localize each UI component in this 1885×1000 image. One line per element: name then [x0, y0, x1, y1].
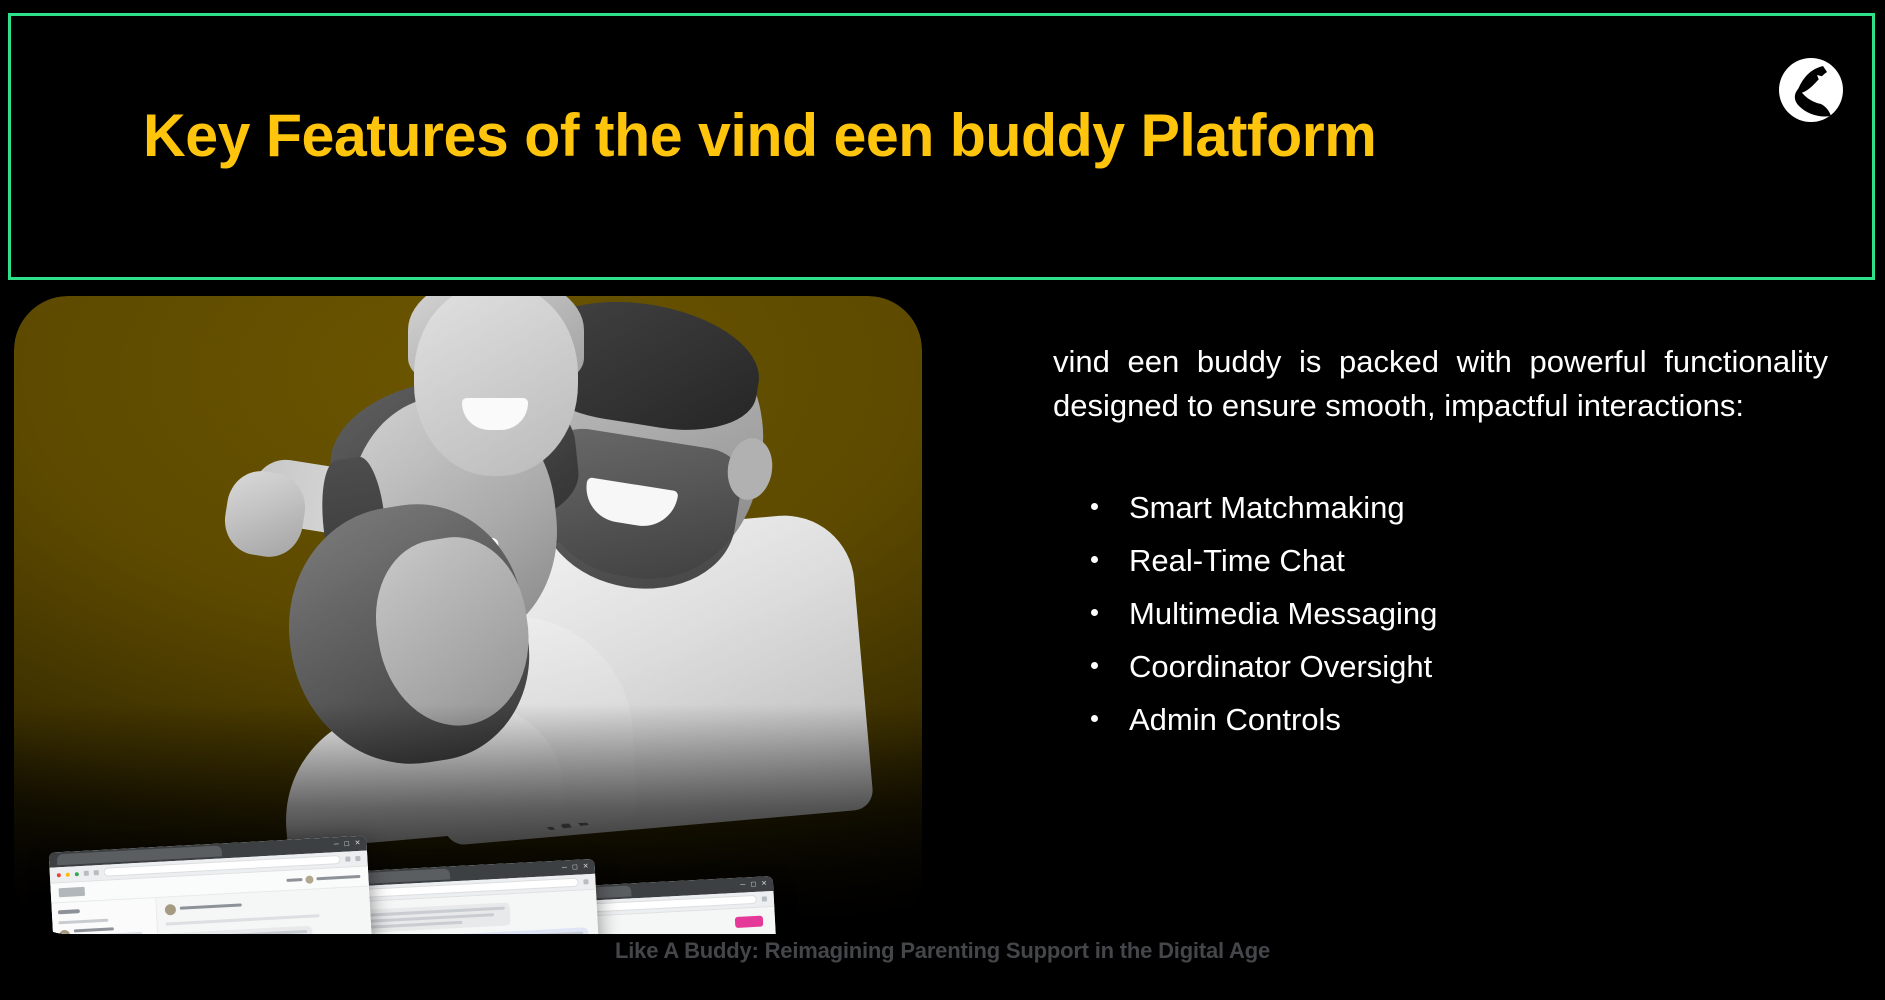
footer-caption: Like A Buddy: Reimagining Parenting Supp… — [0, 938, 1885, 964]
profile-icon[interactable] — [762, 896, 767, 901]
extensions-icon[interactable] — [345, 856, 350, 861]
list-item: Smart Matchmaking — [1053, 492, 1873, 523]
close-icon[interactable]: ✕ — [355, 840, 361, 847]
feature-content: vind een buddy is packed with powerful f… — [1053, 340, 1873, 757]
traffic-light-yellow-icon[interactable] — [66, 872, 70, 876]
list-item: Real-Time Chat — [1053, 545, 1873, 576]
close-icon[interactable]: ✕ — [761, 880, 767, 887]
product-visual-panel: ─ ◻ ✕ — [14, 296, 922, 934]
list-item: Multimedia Messaging — [1053, 598, 1873, 629]
message-bubble — [166, 926, 313, 934]
avatar[interactable] — [305, 875, 313, 883]
matched-section-label — [58, 919, 108, 925]
user-name-label — [316, 875, 360, 880]
avatar — [59, 930, 71, 934]
back-icon[interactable] — [84, 871, 89, 876]
close-icon[interactable]: ✕ — [583, 863, 589, 870]
bullet-icon — [1091, 715, 1098, 722]
buddy-circle-logo-icon — [1779, 58, 1843, 122]
traffic-light-green-icon[interactable] — [75, 872, 79, 876]
page-title: Key Features of the vind een buddy Platf… — [143, 104, 1739, 167]
title-banner: Key Features of the vind een buddy Platf… — [8, 13, 1875, 280]
feature-label: Coordinator Oversight — [1129, 651, 1432, 682]
intro-paragraph: vind een buddy is packed with powerful f… — [1053, 340, 1828, 428]
bullet-icon — [1091, 556, 1098, 563]
maximize-icon[interactable]: ◻ — [750, 881, 756, 888]
save-button[interactable] — [735, 916, 764, 928]
bullet-icon — [1091, 503, 1098, 510]
bullet-icon — [1091, 662, 1098, 669]
list-item[interactable] — [59, 925, 151, 934]
sidebar-title — [58, 909, 80, 914]
forward-icon[interactable] — [94, 870, 99, 875]
maximize-icon[interactable]: ◻ — [572, 864, 578, 871]
feature-label: Admin Controls — [1129, 704, 1341, 735]
maximize-icon[interactable]: ◻ — [344, 840, 350, 847]
feature-label: Multimedia Messaging — [1129, 598, 1437, 629]
list-item: Admin Controls — [1053, 704, 1873, 735]
minimize-icon[interactable]: ─ — [562, 864, 567, 871]
presentation-slide: Key Features of the vind een buddy Platf… — [0, 0, 1885, 1000]
app-logo-icon — [59, 887, 85, 897]
feature-label: Smart Matchmaking — [1129, 492, 1405, 523]
bullet-icon — [1091, 609, 1098, 616]
minimize-icon[interactable]: ─ — [334, 841, 339, 848]
avatar — [165, 904, 177, 916]
list-item: Coordinator Oversight — [1053, 651, 1873, 682]
thread-notice — [166, 914, 320, 925]
traffic-light-red-icon[interactable] — [57, 873, 61, 877]
thread-header — [165, 894, 362, 916]
profile-icon[interactable] — [583, 879, 588, 884]
chat-overview-window[interactable]: ─ ◻ ✕ — [49, 836, 378, 934]
feature-label: Real-Time Chat — [1129, 545, 1345, 576]
profile-icon[interactable] — [355, 856, 360, 861]
feature-list: Smart Matchmaking Real-Time Chat Multime… — [1053, 492, 1873, 735]
nav-chat-link[interactable] — [286, 878, 302, 882]
minimize-icon[interactable]: ─ — [740, 881, 745, 888]
conversation-list[interactable] — [51, 898, 165, 934]
user-menu[interactable] — [286, 872, 360, 884]
